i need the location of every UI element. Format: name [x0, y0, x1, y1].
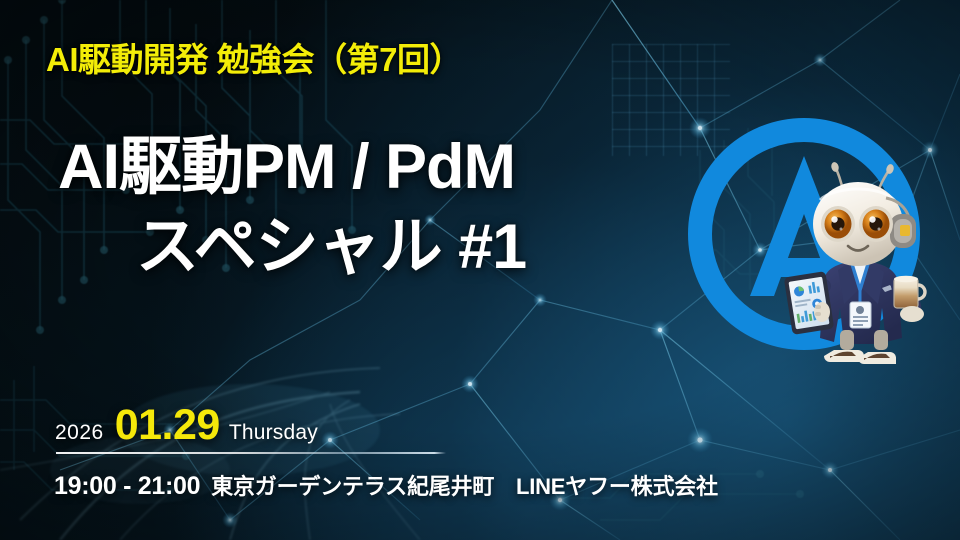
page-title-line1: AI駆動PM / PdM: [58, 116, 515, 207]
event-banner: AI駆動開発 勉強会（第7回） AI駆動PM / PdM スペシャル #1 AI…: [0, 0, 960, 540]
date-weekday: Thursday: [229, 421, 318, 445]
event-venue: 東京ガーデンテラス紀尾井町 LINEヤフー株式会社: [211, 469, 718, 501]
tablet-icon: [784, 271, 835, 335]
event-time: 19:00 - 21:00: [54, 472, 200, 501]
divider-line: [56, 452, 446, 454]
date-year: 2026: [55, 421, 104, 445]
page-title-line2: スペシャル #1: [136, 196, 526, 287]
robot-mascot-svg: [782, 162, 960, 374]
event-series-kicker: AI駆動開発 勉強会（第7回）: [46, 33, 462, 81]
robot-mascot-icon: [782, 162, 960, 374]
event-date: 2026 01.29 Thursday: [55, 401, 318, 450]
robot-head: [813, 182, 916, 266]
date-day: 01.29: [115, 401, 220, 450]
event-schedule: 19:00 - 21:00 東京ガーデンテラス紀尾井町 LINEヤフー株式会社: [54, 469, 718, 501]
